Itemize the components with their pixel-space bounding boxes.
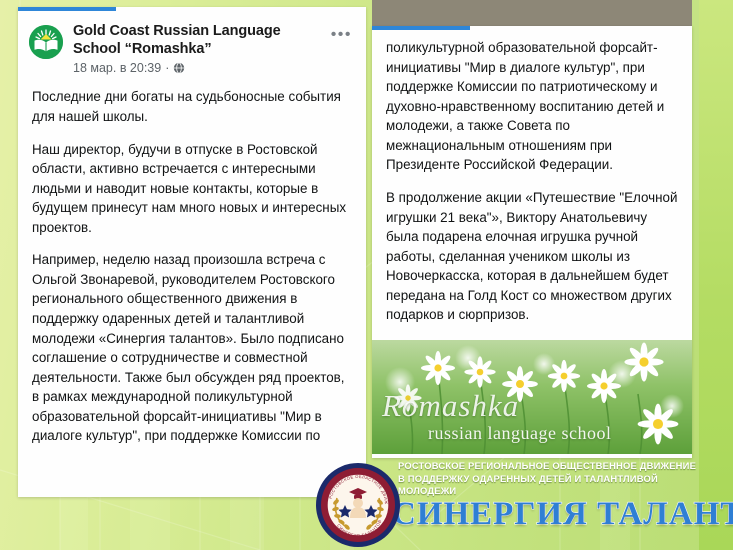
post-more-menu-button[interactable]: ••• xyxy=(323,25,354,49)
post-paragraph: В продолжение акции «Путешествие "Елочно… xyxy=(386,188,678,325)
banner-subtitle: russian language school xyxy=(428,423,611,444)
post-timestamp[interactable]: 18 мар. в 20:39 xyxy=(73,61,161,75)
synergy-title: СИНЕРГИЯ ТАЛАНТОВ xyxy=(392,496,733,533)
globe-icon[interactable] xyxy=(173,62,185,74)
meta-separator: · xyxy=(165,61,169,75)
synergy-talents-emblem-icon: РОСТОВСКОЕ ОБЛАСТНОЕ ДВИЖЕНИЕ СИНЕРГИЯ Т… xyxy=(315,462,401,548)
banner-title: Romashka xyxy=(382,388,519,424)
post-header: Gold Coast Russian Language School “Roma… xyxy=(18,7,366,75)
movement-line-2: В ПОДДЕРЖКУ ОДАРЕННЫХ ДЕТЕЙ И ТАЛАНТЛИВО… xyxy=(398,473,718,498)
movement-line-1: РОСТОВСКОЕ РЕГИОНАЛЬНОЕ ОБЩЕСТВЕННОЕ ДВИ… xyxy=(398,460,718,473)
romashka-banner-image[interactable]: Romashka russian language school xyxy=(372,340,692,454)
school-book-sun-logo-icon xyxy=(29,25,63,59)
avatar[interactable] xyxy=(29,25,63,59)
movement-description: РОСТОВСКОЕ РЕГИОНАЛЬНОЕ ОБЩЕСТВЕННОЕ ДВИ… xyxy=(398,460,718,498)
slide-canvas: Gold Coast Russian Language School “Roma… xyxy=(0,0,733,550)
post-paragraph: поликультурной образовательной форсайт-и… xyxy=(386,38,678,175)
accent-bar-left xyxy=(18,7,116,11)
page-title[interactable]: Gold Coast Russian Language School “Roma… xyxy=(73,23,323,58)
post-paragraph: Например, неделю назад произошла встреча… xyxy=(32,250,352,446)
post-body-left: Последние дни богаты на судьбоносные соб… xyxy=(18,75,366,446)
post-body-right: поликультурной образовательной форсайт-и… xyxy=(372,26,692,325)
post-paragraph: Наш директор, будучи в отпуске в Ростовс… xyxy=(32,140,352,238)
grey-placeholder-block xyxy=(372,0,692,28)
post-paragraph: Последние дни богаты на судьбоносные соб… xyxy=(32,87,352,126)
post-meta: 18 мар. в 20:39 · xyxy=(73,61,323,75)
accent-bar-right xyxy=(372,26,470,30)
facebook-post-card-left[interactable]: Gold Coast Russian Language School “Roma… xyxy=(18,7,366,497)
